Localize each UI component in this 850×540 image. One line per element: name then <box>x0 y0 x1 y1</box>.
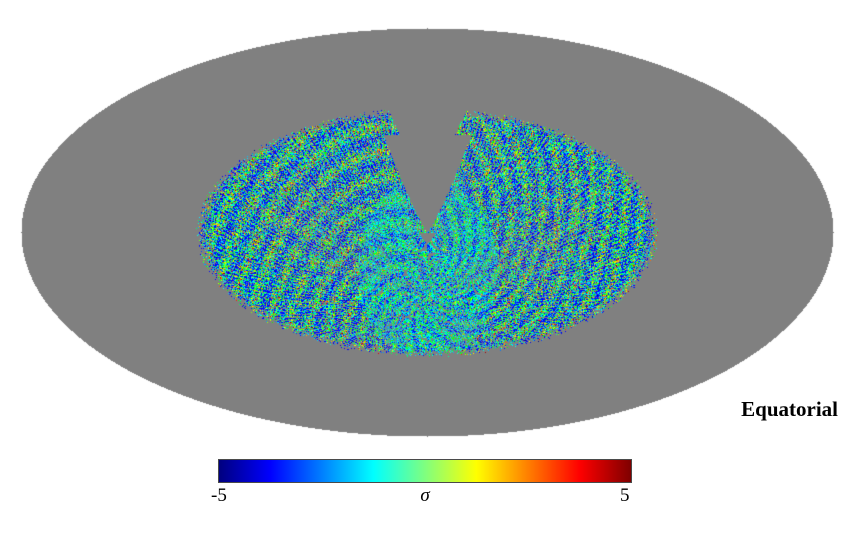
coordinate-system-label: Equatorial <box>741 397 838 422</box>
colorbar <box>218 459 632 483</box>
mollweide-sky-map <box>0 0 850 450</box>
colorbar-gradient <box>218 459 632 483</box>
sky-map-figure: Weighted SUN60_Oct13_cut_10_99_c - SUN60… <box>0 0 850 540</box>
colorbar-unit-label: σ <box>0 485 850 507</box>
colorbar-max-tick-label: 5 <box>620 485 630 507</box>
